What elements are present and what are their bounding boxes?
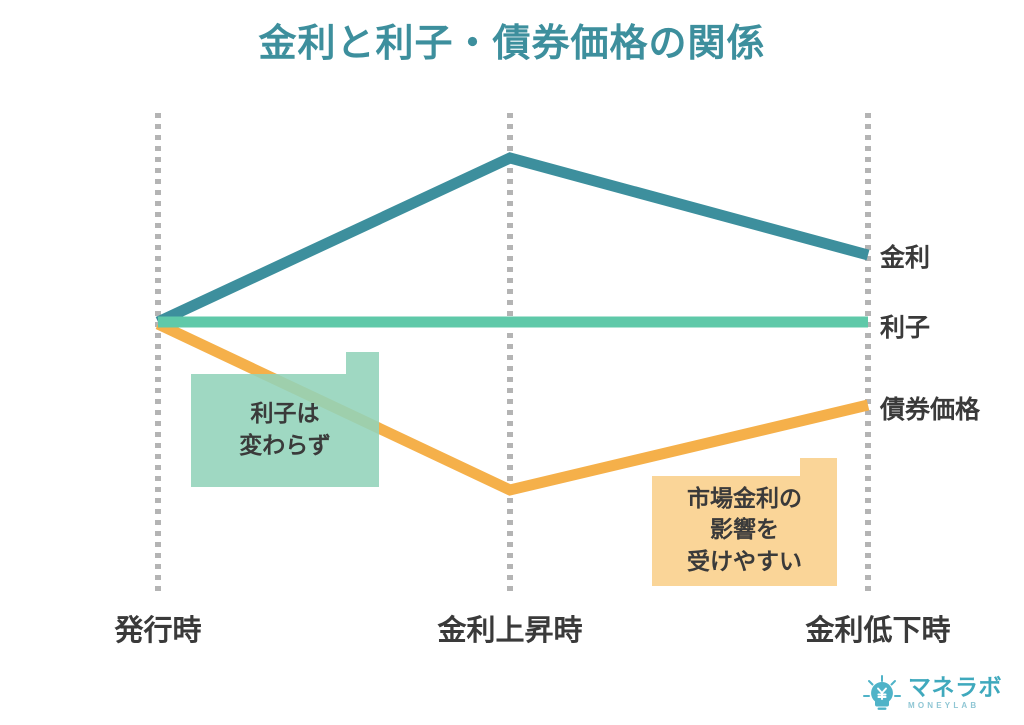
brand-name: マネラボ (908, 676, 1002, 699)
legend-label-bond-price: 債券価格 (880, 390, 980, 426)
chart-container: 金利と利子・債券価格の関係 利子は 変わらず 市場金利の 影響を 受けやすい 金… (0, 0, 1024, 725)
axis-label-rate-rise: 金利上昇時 (437, 607, 582, 649)
axis-label-issuance: 発行時 (114, 607, 201, 649)
brand-logo: マネラボ MONEYLAB (862, 672, 1010, 714)
axis-label-rate-fall: 金利低下時 (805, 607, 950, 649)
legend-label-interest-rate: 金利 (880, 238, 930, 274)
legend-label-interest: 利子 (880, 308, 930, 344)
brand-subtitle: MONEYLAB (908, 702, 1002, 710)
lightbulb-yen-icon (862, 674, 902, 712)
annotation-bond-price-sensitive: 市場金利の 影響を 受けやすい (652, 458, 837, 586)
brand-logo-text: マネラボ MONEYLAB (908, 676, 1002, 710)
